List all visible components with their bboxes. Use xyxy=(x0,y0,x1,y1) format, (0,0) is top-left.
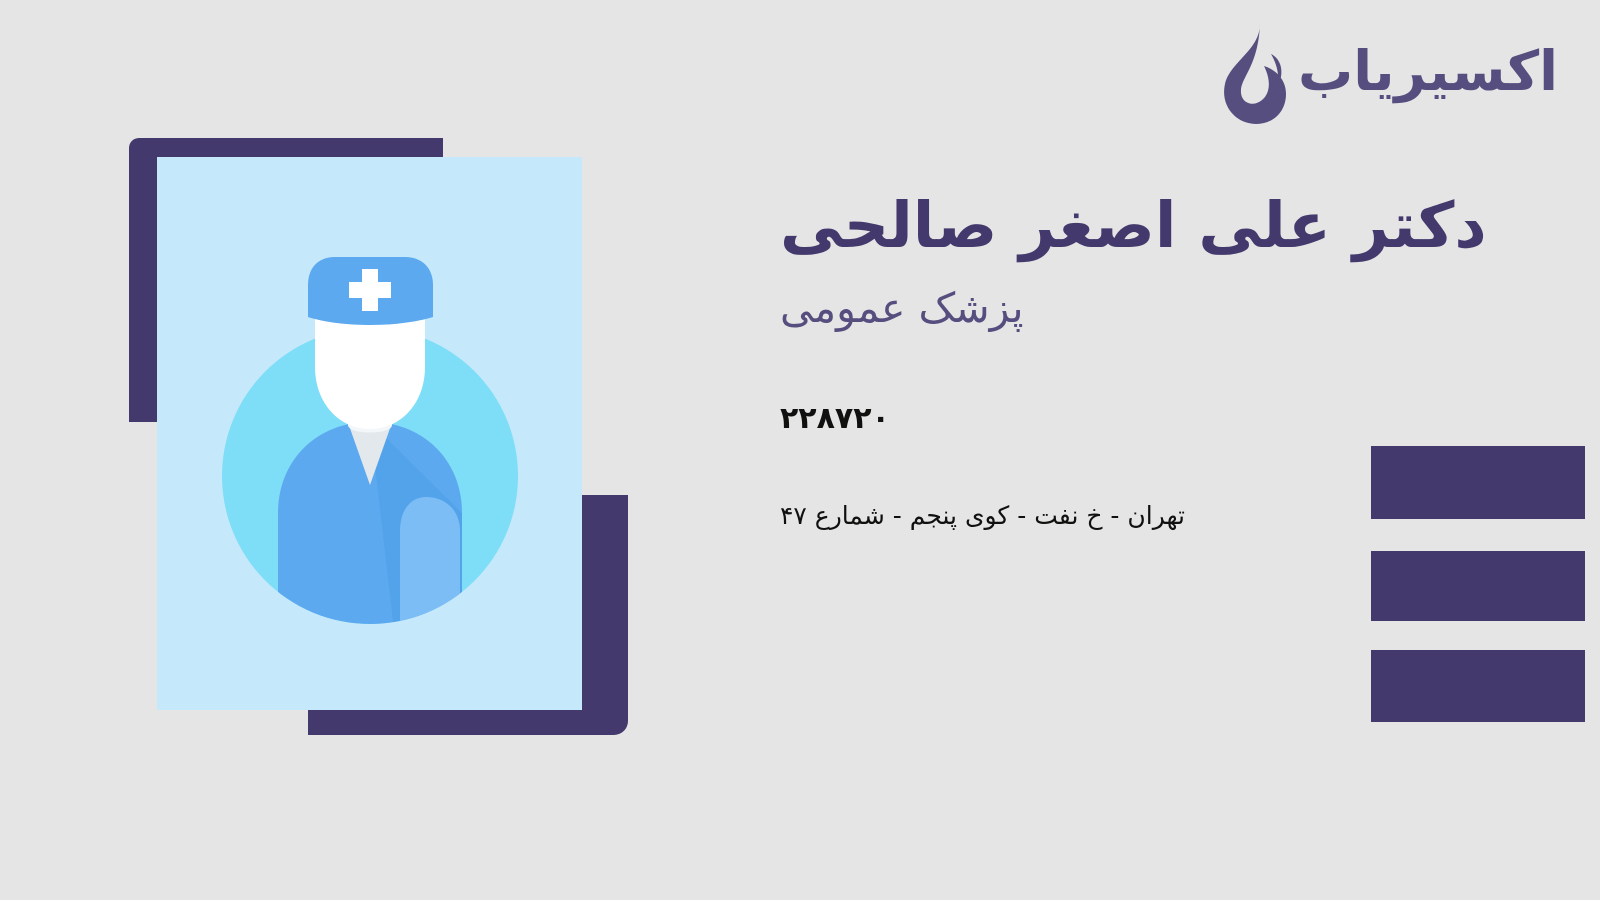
brand-logo[interactable]: اکسیریاب xyxy=(1214,22,1558,126)
decorative-bar-3 xyxy=(1371,650,1585,722)
business-card-page: اکسیریاب xyxy=(0,0,1600,900)
flame-drop-icon xyxy=(1214,22,1288,126)
decorative-bar-2 xyxy=(1371,551,1585,621)
doctor-specialty: پزشک عمومی xyxy=(780,284,1540,333)
decorative-bar-1 xyxy=(1371,446,1585,519)
doctor-code: ۲۲۸۷۲۰ xyxy=(780,404,1540,434)
brand-name: اکسیریاب xyxy=(1298,44,1558,105)
doctor-illustration xyxy=(129,138,629,736)
doctor-name: دکتر علی اصغر صالحی xyxy=(780,190,1540,262)
doctor-photo-card xyxy=(157,157,582,710)
